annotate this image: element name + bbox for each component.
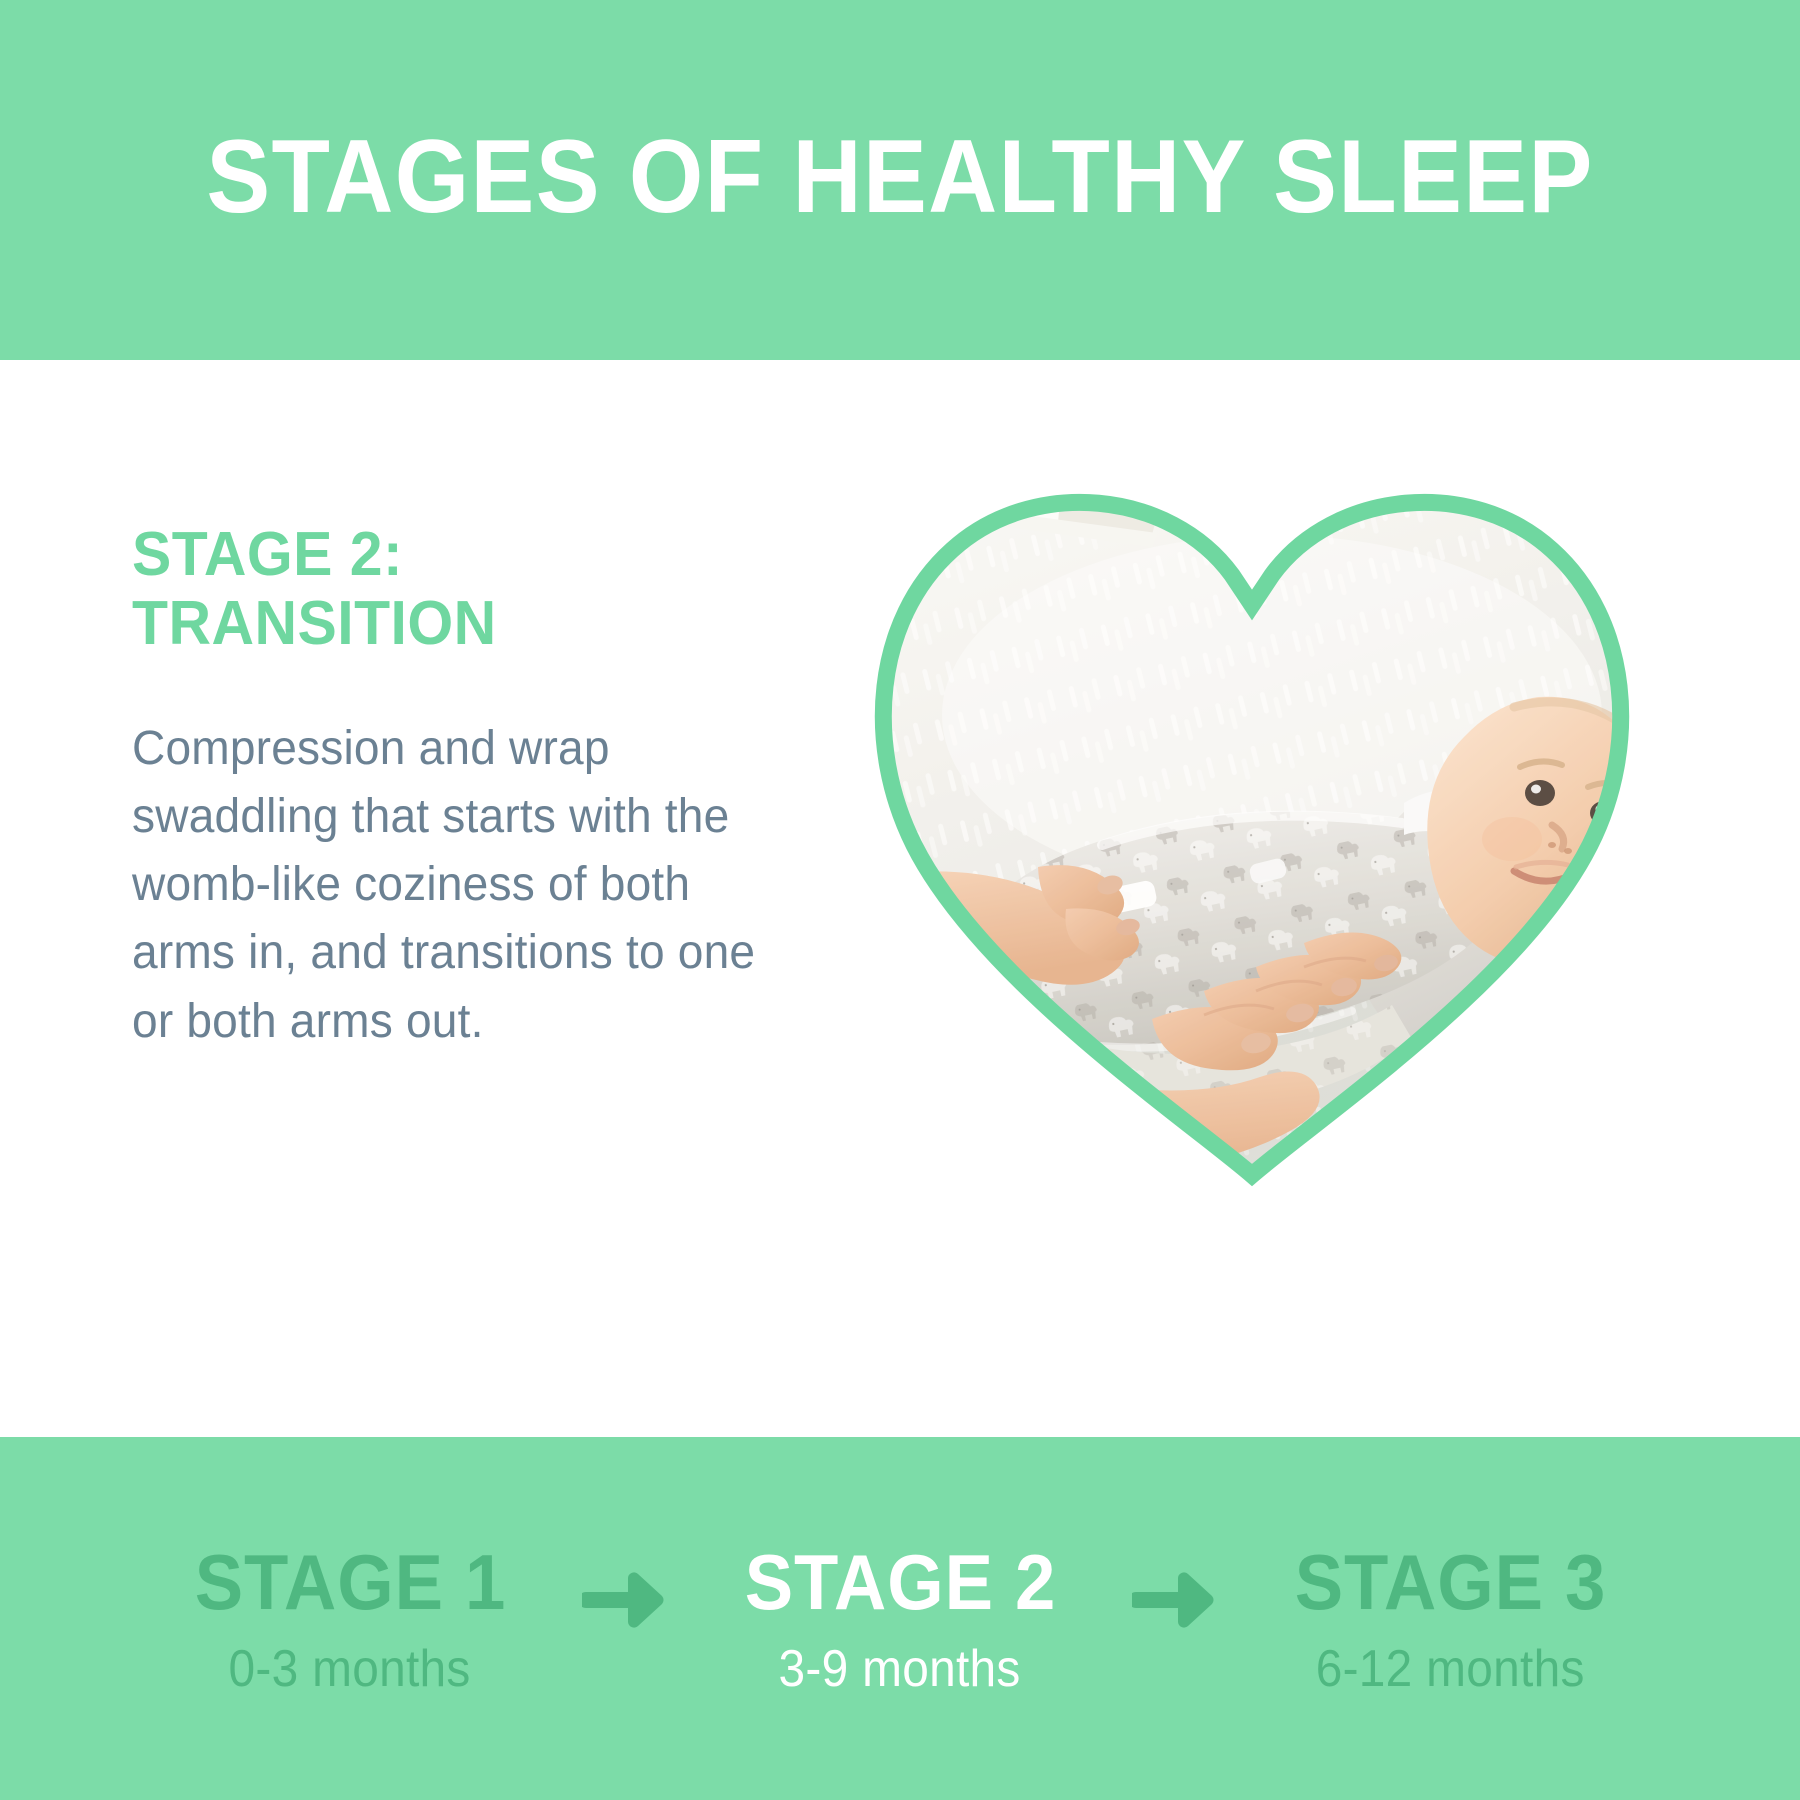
footer-stage-2-title: STAGE 2 — [744, 1543, 1056, 1621]
footer-stage-1-age: 0-3 months — [229, 1643, 471, 1695]
main-content: STAGE 2: TRANSITION Compression and wrap… — [0, 360, 1800, 1437]
footer-stage-3-age: 6-12 months — [1316, 1643, 1585, 1695]
footer-band: STAGE 1 0-3 months STAGE 2 3-9 months ST… — [0, 1437, 1800, 1800]
footer-stage-2-age: 3-9 months — [779, 1643, 1021, 1695]
footer-stage-1-title: STAGE 1 — [194, 1543, 506, 1621]
page-title: STAGES OF HEALTHY SLEEP — [206, 125, 1593, 229]
stage-description: Compression and wrap swaddling that star… — [132, 715, 804, 1056]
footer-stage-3-title: STAGE 3 — [1294, 1543, 1606, 1621]
footer-stage-2[interactable]: STAGE 2 3-9 months — [685, 1543, 1115, 1695]
heart-photo-svg — [852, 415, 1652, 1205]
header-band: STAGES OF HEALTHY SLEEP — [0, 0, 1800, 360]
stage-heading: STAGE 2: TRANSITION — [132, 520, 797, 659]
heart-photo-frame — [852, 415, 1652, 1205]
footer-stage-1[interactable]: STAGE 1 0-3 months — [135, 1543, 565, 1695]
infographic-canvas: STAGES OF HEALTHY SLEEP STAGE 2: TRANSIT… — [0, 0, 1800, 1800]
arrow-right-icon-1 — [565, 1570, 685, 1630]
arrow-right-icon-2 — [1115, 1570, 1235, 1630]
footer-stage-3[interactable]: STAGE 3 6-12 months — [1235, 1543, 1665, 1695]
stage-text-column: STAGE 2: TRANSITION Compression and wrap… — [132, 520, 832, 1056]
stage-progress-row: STAGE 1 0-3 months STAGE 2 3-9 months ST… — [0, 1437, 1800, 1800]
